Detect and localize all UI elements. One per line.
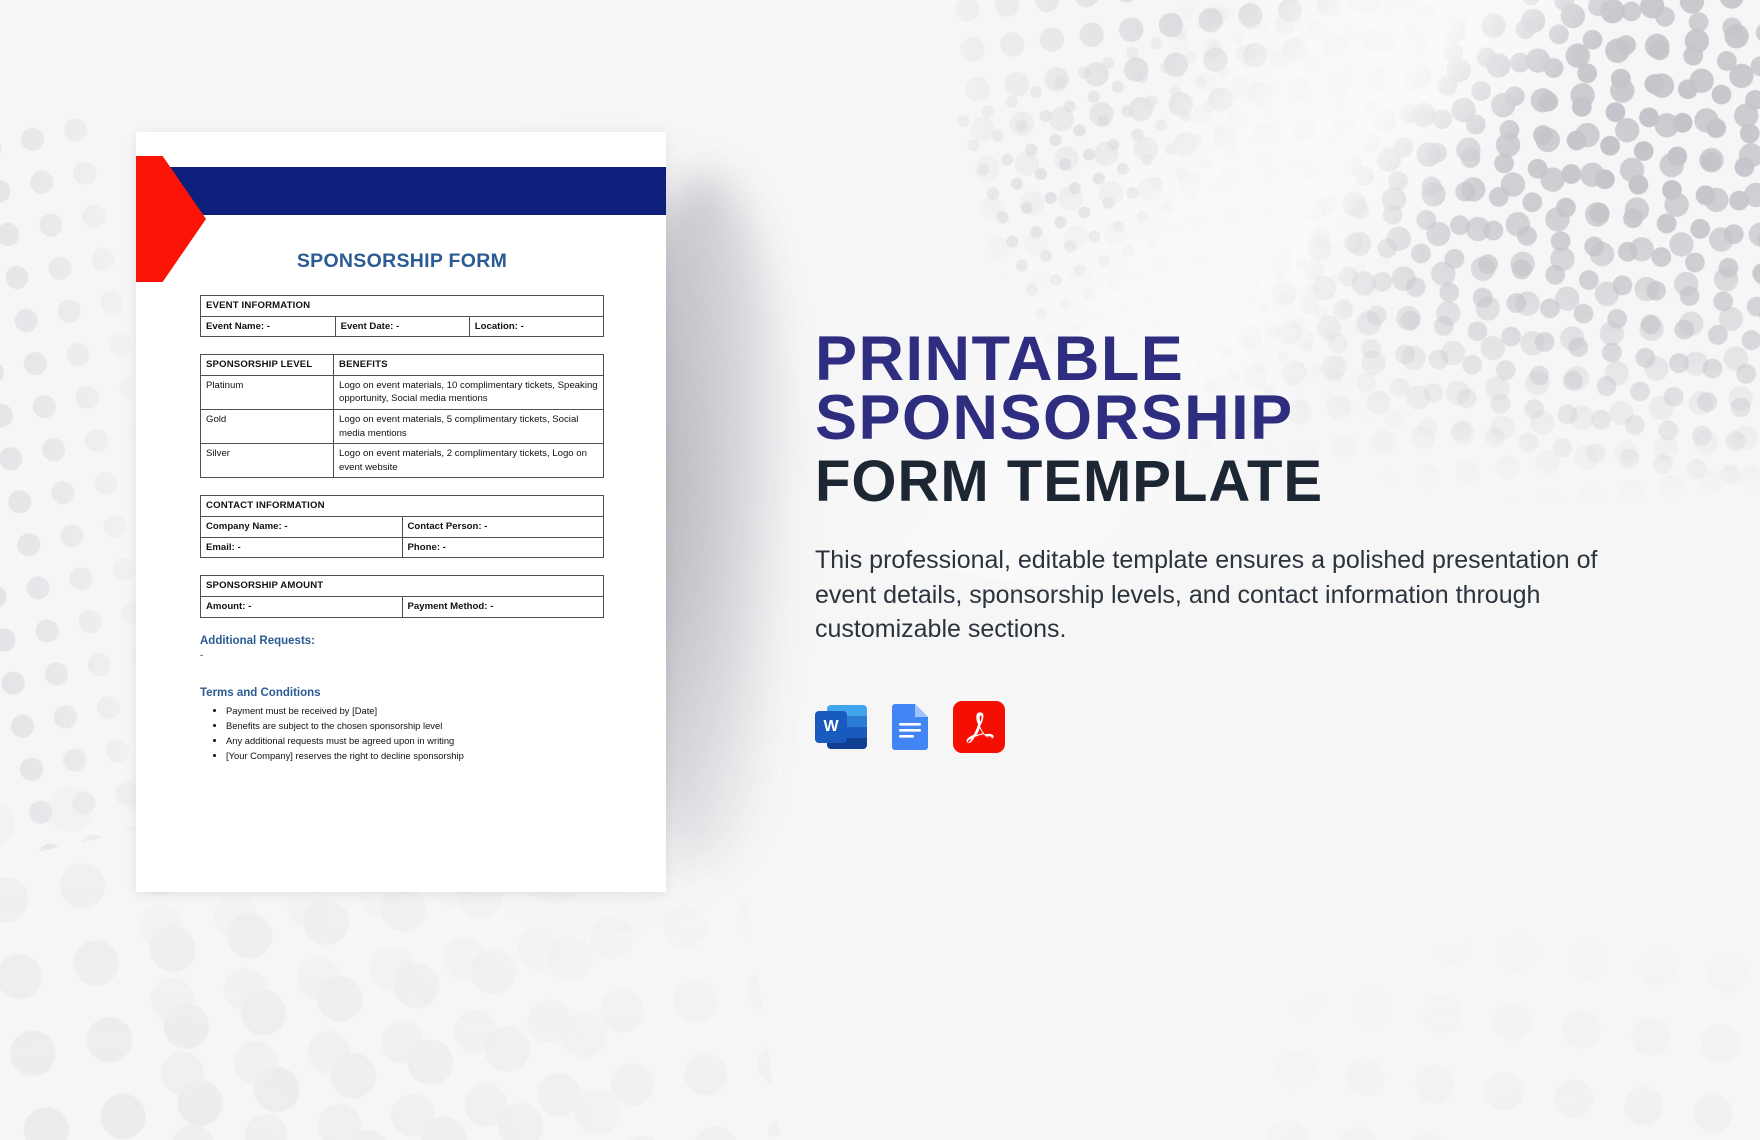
halftone-pattern-bottom-right [1244, 892, 1760, 1140]
table-row: Company Name: - Contact Person: - [201, 517, 604, 538]
level-benefits-platinum: Logo on event materials, 10 complimentar… [333, 375, 603, 409]
level-name-gold: Gold [201, 410, 334, 444]
list-item: Payment must be received by [Date] [226, 703, 604, 718]
sponsorship-amount-table: SPONSORSHIP AMOUNT Amount: - Payment Met… [200, 575, 604, 617]
field-event-name[interactable]: Event Name: - [201, 316, 336, 337]
promo-headline: PRINTABLE SPONSORSHIP FORM TEMPLATE [815, 330, 1645, 509]
file-format-icons: W [815, 701, 1645, 753]
field-payment-method[interactable]: Payment Method: - [402, 596, 604, 617]
microsoft-word-icon[interactable]: W [815, 701, 867, 753]
level-name-platinum: Platinum [201, 375, 334, 409]
level-name-silver: Silver [201, 444, 334, 478]
table-row: CONTACT INFORMATION [201, 496, 604, 517]
word-icon-letter: W [815, 711, 847, 743]
event-information-table: EVENT INFORMATION Event Name: - Event Da… [200, 295, 604, 337]
table-row: Amount: - Payment Method: - [201, 596, 604, 617]
document-header-navy-bar [168, 167, 666, 215]
field-amount[interactable]: Amount: - [201, 596, 403, 617]
additional-requests-value[interactable]: - [200, 650, 604, 661]
sponsorship-amount-heading: SPONSORSHIP AMOUNT [201, 576, 604, 597]
contact-information-table: CONTACT INFORMATION Company Name: - Cont… [200, 495, 604, 558]
column-header-sponsorship-level: SPONSORSHIP LEVEL [201, 355, 334, 376]
table-row: SPONSORSHIP LEVEL BENEFITS [201, 355, 604, 376]
table-row: Gold Logo on event materials, 5 complime… [201, 410, 604, 444]
table-row: Email: - Phone: - [201, 537, 604, 558]
field-company-name[interactable]: Company Name: - [201, 517, 403, 538]
level-benefits-silver: Logo on event materials, 2 complimentary… [333, 444, 603, 478]
field-location[interactable]: Location: - [469, 316, 603, 337]
document-body: SPONSORSHIP FORM EVENT INFORMATION Event… [136, 250, 666, 763]
table-row: EVENT INFORMATION [201, 296, 604, 317]
document-preview[interactable]: SPONSORSHIP FORM EVENT INFORMATION Event… [136, 132, 666, 892]
field-contact-person[interactable]: Contact Person: - [402, 517, 604, 538]
list-item: [Your Company] reserves the right to dec… [226, 748, 604, 763]
table-row: Platinum Logo on event materials, 10 com… [201, 375, 604, 409]
list-item: Any additional requests must be agreed u… [226, 733, 604, 748]
contact-information-heading: CONTACT INFORMATION [201, 496, 604, 517]
list-item: Benefits are subject to the chosen spons… [226, 718, 604, 733]
adobe-pdf-icon[interactable] [953, 701, 1005, 753]
document-title: SPONSORSHIP FORM [200, 250, 604, 273]
terms-and-conditions-heading: Terms and Conditions [200, 687, 604, 699]
level-benefits-gold: Logo on event materials, 5 complimentary… [333, 410, 603, 444]
google-docs-icon[interactable] [884, 701, 936, 753]
promo-headline-line-1: PRINTABLE [815, 330, 1645, 389]
table-row: SPONSORSHIP AMOUNT [201, 576, 604, 597]
promo-headline-line-2: SPONSORSHIP [815, 389, 1645, 448]
event-information-heading: EVENT INFORMATION [201, 296, 604, 317]
column-header-benefits: BENEFITS [333, 355, 603, 376]
sponsorship-levels-table: SPONSORSHIP LEVEL BENEFITS Platinum Logo… [200, 354, 604, 478]
promo-panel: PRINTABLE SPONSORSHIP FORM TEMPLATE This… [815, 330, 1645, 753]
field-email[interactable]: Email: - [201, 537, 403, 558]
promo-headline-line-3: FORM TEMPLATE [815, 455, 1645, 509]
field-event-date[interactable]: Event Date: - [335, 316, 469, 337]
terms-and-conditions-list: Payment must be received by [Date] Benef… [200, 703, 604, 764]
promo-description: This professional, editable template ens… [815, 543, 1615, 647]
field-phone[interactable]: Phone: - [402, 537, 604, 558]
table-row: Silver Logo on event materials, 2 compli… [201, 444, 604, 478]
table-row: Event Name: - Event Date: - Location: - [201, 316, 604, 337]
additional-requests-heading: Additional Requests: [200, 635, 604, 647]
